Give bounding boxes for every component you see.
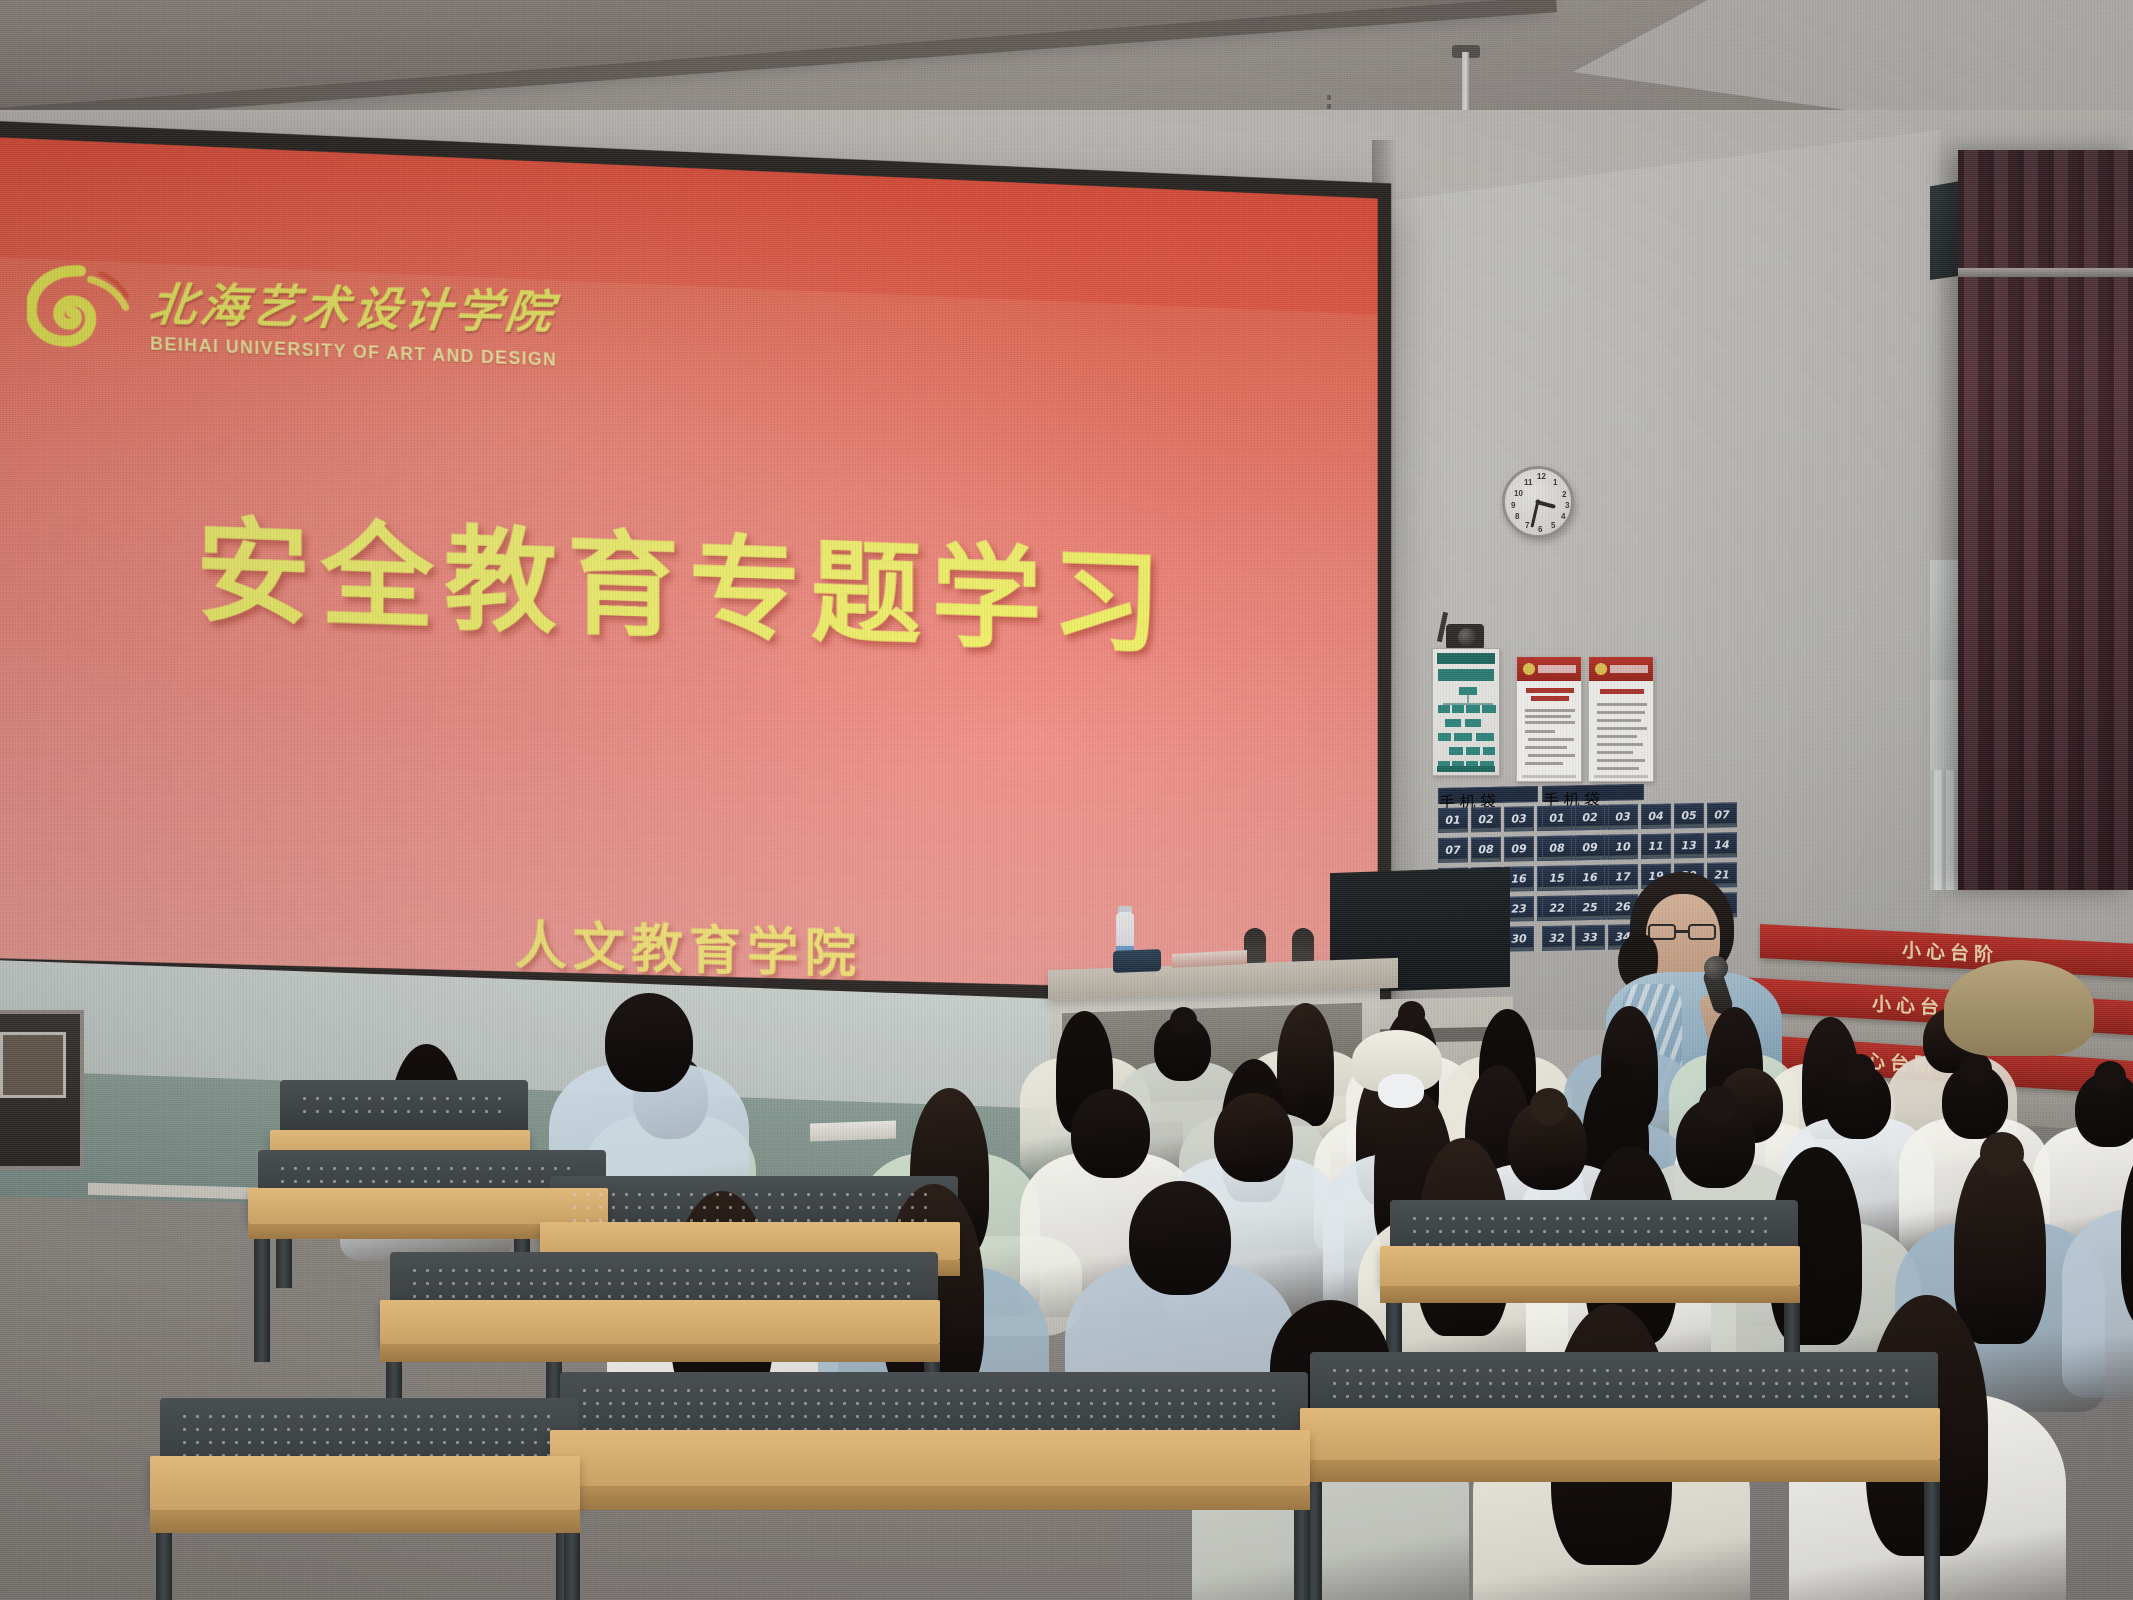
security-camera xyxy=(1446,624,1484,650)
poster-body-line xyxy=(1597,759,1645,762)
student-desk xyxy=(248,1188,608,1224)
left-equipment-cabinet xyxy=(0,1010,84,1170)
poster-body-line xyxy=(1597,735,1637,738)
poster-body-line xyxy=(1525,762,1563,765)
poster-title-bar xyxy=(1438,669,1494,681)
poster-body-line xyxy=(1525,709,1575,712)
flow-node xyxy=(1449,747,1463,755)
flow-node xyxy=(1466,705,1480,713)
poster-footer xyxy=(1594,775,1648,778)
student-face-mask xyxy=(1378,1074,1424,1108)
poster-header-text xyxy=(1610,665,1648,673)
phone-pocket[interactable]: 11 xyxy=(1641,834,1671,860)
phone-pocket[interactable]: 03 xyxy=(1608,804,1638,830)
poster-header xyxy=(1437,653,1495,664)
clock-numeral: 6 xyxy=(1538,525,1542,534)
clock-numeral: 11 xyxy=(1524,478,1532,487)
speaker-glasses-icon xyxy=(1646,924,1720,940)
safety-notice-poster-2 xyxy=(1588,656,1654,782)
flow-node xyxy=(1483,747,1495,755)
desk-front-edge xyxy=(1380,1286,1800,1303)
flow-connector xyxy=(1467,695,1469,703)
student-hair-bun xyxy=(1960,1053,1992,1084)
desk-leg xyxy=(254,1232,270,1362)
pocket-board-header-left: 手 机 袋 xyxy=(1438,786,1538,804)
phone-pocket[interactable]: 22 xyxy=(1542,895,1572,921)
desk-front-edge xyxy=(380,1344,940,1362)
clock-center-pin xyxy=(1536,500,1541,505)
podium-microphone-2 xyxy=(1292,928,1314,964)
flow-node xyxy=(1459,687,1477,695)
phone-pocket[interactable]: 01 xyxy=(1438,807,1468,833)
phone-pocket[interactable]: 14 xyxy=(1707,832,1737,858)
poster-body-line xyxy=(1597,743,1643,746)
poster-body-line xyxy=(1597,719,1641,722)
flow-node xyxy=(1445,719,1461,727)
student-khaki-cap xyxy=(1944,960,2094,1056)
audience-student xyxy=(2062,1133,2133,1427)
university-logo: 北海艺术设计学院 BEIHAI UNIVERSITY OF ART AND DE… xyxy=(27,258,557,370)
clock-numeral: 12 xyxy=(1537,472,1546,481)
phone-pocket[interactable]: 02 xyxy=(1471,807,1501,833)
phone-pocket[interactable]: 01 xyxy=(1542,805,1572,831)
poster-body-line xyxy=(1525,746,1567,749)
clock-numeral: 7 xyxy=(1525,521,1529,530)
wall-clock: 12 1 2 3 4 5 6 7 8 9 10 11 xyxy=(1502,466,1574,538)
student-desk xyxy=(380,1300,940,1344)
phone-pocket[interactable]: 32 xyxy=(1542,925,1572,951)
clock-numeral: 9 xyxy=(1511,501,1515,510)
navy-pouch xyxy=(1113,949,1161,973)
poster-body-line xyxy=(1528,738,1574,741)
flow-node xyxy=(1466,747,1480,755)
student-desk xyxy=(150,1456,580,1510)
flow-node xyxy=(1452,705,1464,713)
camera-lens-icon xyxy=(1458,628,1476,646)
poster-body-line xyxy=(1528,754,1575,757)
poster-logo-icon xyxy=(1523,663,1535,675)
clock-numeral: 5 xyxy=(1551,521,1555,530)
phone-pocket[interactable]: 08 xyxy=(1542,835,1572,861)
student-hair xyxy=(1214,1093,1293,1182)
university-name-cn: 北海艺术设计学院 xyxy=(146,268,562,342)
student-hair-bun xyxy=(1170,1007,1197,1034)
pocket-board-header-right: 手 机 袋 xyxy=(1542,784,1644,802)
poster-logo-icon xyxy=(1595,663,1607,675)
poster-footer xyxy=(1437,766,1495,772)
phone-pocket[interactable]: 05 xyxy=(1674,803,1704,829)
flow-node xyxy=(1476,733,1494,741)
poster-body-line xyxy=(1525,715,1571,718)
poster-body-line xyxy=(1597,703,1647,706)
poster-footer xyxy=(1522,775,1576,778)
poster-body-line xyxy=(1597,727,1647,730)
clock-numeral: 2 xyxy=(1562,490,1566,499)
phone-pocket[interactable]: 08 xyxy=(1471,837,1501,863)
phone-pocket[interactable]: 04 xyxy=(1641,804,1671,830)
swirl-logo-icon xyxy=(27,262,134,349)
poster-body-line xyxy=(1597,767,1639,770)
phone-pocket[interactable]: 03 xyxy=(1504,806,1534,832)
lecture-hall-photo: 前远瞩 北海艺术设计学院 BEIHAI UNIVERSITY OF ART AN… xyxy=(0,0,2133,1600)
phone-pocket[interactable]: 13 xyxy=(1674,833,1704,859)
clock-numeral: 1 xyxy=(1553,478,1557,487)
clock-numeral: 10 xyxy=(1514,489,1523,498)
clock-numeral: 3 xyxy=(1565,501,1569,510)
student-hair xyxy=(605,993,692,1092)
podium-microphone-1 xyxy=(1244,928,1266,964)
curtain-rod xyxy=(1958,268,2133,277)
student-hair-bun xyxy=(2094,1061,2126,1092)
student-hair-bun xyxy=(1530,1088,1568,1126)
flow-node xyxy=(1438,733,1451,741)
poster-body-line xyxy=(1597,711,1645,714)
phone-pocket[interactable]: 09 xyxy=(1575,835,1605,861)
stage-curtain xyxy=(1958,150,2133,890)
desk-front-edge xyxy=(1300,1460,1940,1482)
poster-body-line xyxy=(1525,721,1575,724)
student-hair-bun xyxy=(1601,1060,1633,1091)
flow-node xyxy=(1454,733,1472,741)
cabinet-inset xyxy=(0,1032,66,1098)
emergency-flowchart-poster xyxy=(1432,648,1500,776)
phone-pocket[interactable]: 10 xyxy=(1608,834,1638,860)
slide-surface: 北海艺术设计学院 BEIHAI UNIVERSITY OF ART AND DE… xyxy=(0,136,1378,993)
poster-title-line xyxy=(1600,689,1644,694)
poster-body-line xyxy=(1525,730,1555,733)
flow-node xyxy=(1438,705,1450,713)
phone-pocket[interactable]: 15 xyxy=(1542,865,1572,891)
clock-numeral: 4 xyxy=(1561,512,1565,521)
flow-node xyxy=(1465,719,1481,727)
student-desk xyxy=(550,1430,1310,1486)
desk-front-edge xyxy=(550,1486,1310,1510)
student-hair xyxy=(1129,1181,1230,1295)
phone-pocket[interactable]: 02 xyxy=(1575,805,1605,831)
seat-back-perforation xyxy=(298,1092,502,1122)
clock-numeral: 8 xyxy=(1515,512,1519,521)
phone-pocket[interactable]: 07 xyxy=(1438,837,1468,863)
projection-screen: 北海艺术设计学院 BEIHAI UNIVERSITY OF ART AND DE… xyxy=(0,120,1391,1010)
phone-pocket[interactable]: 07 xyxy=(1707,802,1737,828)
safety-notice-poster-1 xyxy=(1516,656,1582,782)
student-hair xyxy=(1071,1089,1150,1178)
poster-title-line xyxy=(1526,688,1574,693)
student-hair-bun xyxy=(1980,1132,2024,1176)
phone-pocket[interactable]: 09 xyxy=(1504,836,1534,862)
slide-title: 安全教育专题学习 xyxy=(0,472,1378,683)
poster-body-line xyxy=(1597,751,1633,754)
desk-front-edge xyxy=(150,1510,580,1533)
desk-leg xyxy=(1924,1468,1940,1600)
poster-header xyxy=(1517,657,1581,681)
student-hair-bun xyxy=(1699,1086,1737,1124)
student-desk xyxy=(1300,1408,1940,1460)
flowchart-grid xyxy=(1437,687,1495,763)
student-desk xyxy=(1380,1246,1800,1286)
poster-title-line xyxy=(1531,696,1569,701)
poster-header xyxy=(1589,657,1653,681)
university-logo-text: 北海艺术设计学院 BEIHAI UNIVERSITY OF ART AND DE… xyxy=(150,264,557,371)
flow-node xyxy=(1482,705,1496,713)
poster-header-text xyxy=(1538,665,1576,673)
clock-minute-hand xyxy=(1531,502,1539,528)
